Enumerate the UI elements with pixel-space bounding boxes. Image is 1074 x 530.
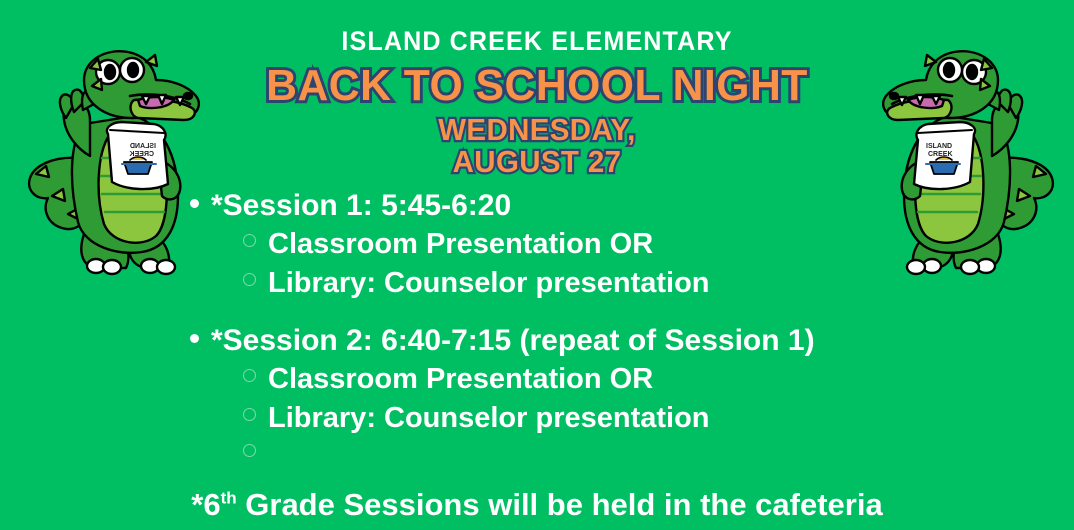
bullet-circle-icon (243, 408, 256, 421)
event-date: WEDNESDAY, AUGUST 27 (27, 114, 1047, 178)
bullet-circle-icon (243, 234, 256, 247)
footnote-suffix: Grade Sessions will be held in the cafet… (237, 487, 883, 522)
footnote-superscript: th (221, 489, 237, 508)
session-option: Classroom Presentation OR (0, 360, 1074, 399)
session-option: Classroom Presentation OR (0, 225, 1074, 264)
session-heading-label: *Session 2: 6:40-7:15 (repeat of Session… (211, 321, 815, 360)
session-block-2: *Session 2: 6:40-7:15 (repeat of Session… (0, 321, 1074, 474)
school-name: ISLAND CREEK ELEMENTARY (38, 26, 1037, 57)
session-option: Library: Counselor presentation (0, 264, 1074, 303)
bullet-circle-icon (243, 273, 256, 286)
session-option-label: Library: Counselor presentation (268, 399, 710, 438)
session-heading: *Session 1: 5:45-6:20 (0, 186, 1074, 225)
bullet-circle-icon (243, 444, 256, 457)
session-option-empty (0, 438, 1074, 474)
session-list: *Session 1: 5:45-6:20 Classroom Presenta… (0, 186, 1074, 474)
event-date-line-2: AUGUST 27 (27, 146, 1047, 178)
session-option: Library: Counselor presentation (0, 399, 1074, 438)
event-date-line-1: WEDNESDAY, (27, 114, 1047, 146)
session-block-1: *Session 1: 5:45-6:20 Classroom Presenta… (0, 186, 1074, 303)
session-option-label: Library: Counselor presentation (268, 264, 710, 303)
list-spacer (0, 303, 1074, 321)
footnote: *6th Grade Sessions will be held in the … (0, 487, 1074, 523)
session-heading: *Session 2: 6:40-7:15 (repeat of Session… (0, 321, 1074, 360)
session-heading-label: *Session 1: 5:45-6:20 (211, 186, 511, 225)
page-title: BACK TO SCHOOL NIGHT (16, 63, 1058, 110)
bullet-dot-icon (190, 334, 199, 343)
flyer-canvas: ISLAND CREEK (0, 0, 1074, 530)
session-option-label: Classroom Presentation OR (268, 225, 653, 264)
bullet-dot-icon (190, 199, 199, 208)
session-option-label: Classroom Presentation OR (268, 360, 653, 399)
footnote-prefix: *6 (191, 487, 220, 522)
bullet-circle-icon (243, 369, 256, 382)
